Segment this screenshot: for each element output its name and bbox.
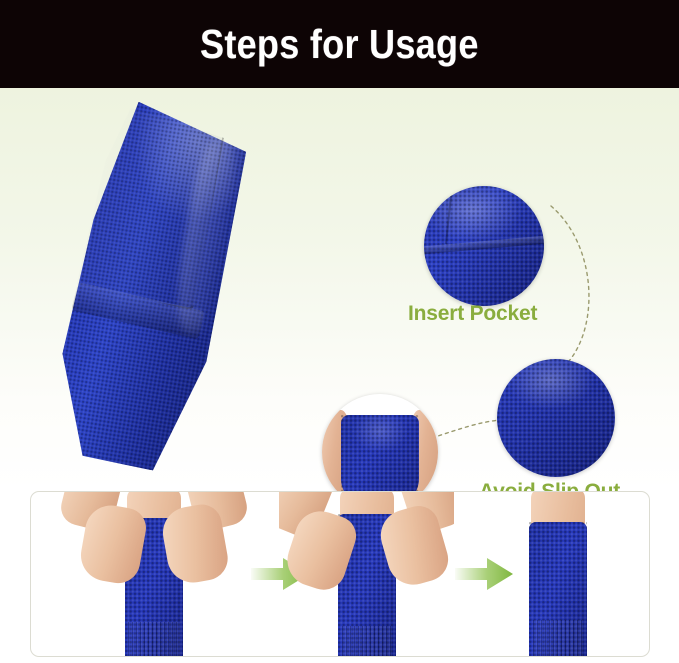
sock-cuff-1 [128, 622, 180, 656]
usage-steps-panel: two hands pulling the blue sleeve up ove… [30, 491, 650, 657]
grip-knit-texture [497, 359, 615, 477]
sock-cuff-2 [342, 626, 392, 656]
product-main-image: blue-knit-shin-guard-sleeve [22, 96, 322, 486]
sock-cuff-3 [533, 620, 583, 656]
product-image-alt: blue-knit-shin-guard-sleeve [22, 96, 23, 97]
callout-label-insert-pocket: Insert Pocket [408, 302, 537, 327]
connector-pocket-to-texture [551, 206, 589, 370]
step-photo-1: two hands pulling the blue sleeve up ove… [59, 492, 249, 656]
header-banner: Steps for Usage [0, 0, 679, 88]
step-3-alt: the blue sleeve worn in final position o… [483, 492, 484, 493]
connector-hands-to-texture [432, 420, 500, 438]
step-photo-3: the blue sleeve worn in final position o… [483, 492, 633, 656]
feature-section: blue-knit-shin-guard-sleeve Insert Pocke… [0, 88, 679, 490]
callout-circle-avoid-slip-out [497, 359, 615, 477]
step-photo-2: hands adjusting the sleeve into position… [279, 492, 454, 656]
product-sleeve-graphic [34, 94, 252, 477]
step-1-alt: two hands pulling the blue sleeve up ove… [59, 492, 60, 493]
callout-circle-insert-pocket [424, 186, 544, 306]
page-title: Steps for Usage [200, 21, 479, 68]
